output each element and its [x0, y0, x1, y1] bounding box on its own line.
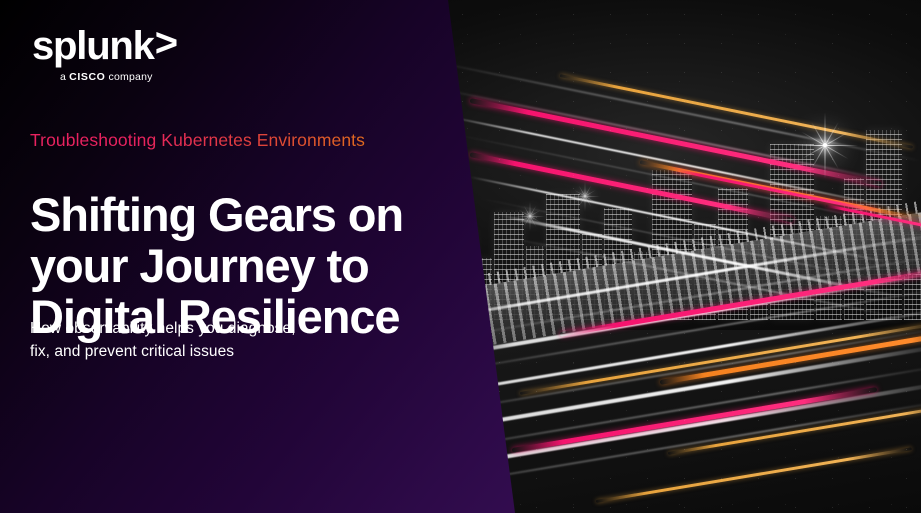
headline-line-1: Shifting Gears on	[30, 188, 403, 241]
subtitle-line-1: How observability helps you diagnose,	[30, 318, 430, 341]
subtitle-line-2: fix, and prevent critical issues	[30, 341, 430, 364]
splunk-logo[interactable]: splunk > a CISCO company	[32, 26, 222, 83]
cover-content: splunk > a CISCO company Troubleshooting…	[0, 0, 460, 513]
cisco-tagline: a CISCO company	[60, 72, 222, 83]
splunk-wordmark: splunk >	[32, 26, 222, 66]
tagline-prefix: a	[60, 71, 69, 83]
tagline-cisco: CISCO	[69, 71, 105, 83]
cover-page: splunk > a CISCO company Troubleshooting…	[0, 0, 921, 513]
tagline-suffix: company	[105, 71, 152, 83]
chevron-right-icon: >	[155, 23, 177, 63]
splunk-wordmark-text: splunk	[32, 26, 154, 66]
eyebrow-kicker: Troubleshooting Kubernetes Environments	[30, 130, 365, 151]
subtitle: How observability helps you diagnose, fi…	[30, 318, 430, 364]
headline-line-2: your Journey to	[30, 239, 369, 292]
